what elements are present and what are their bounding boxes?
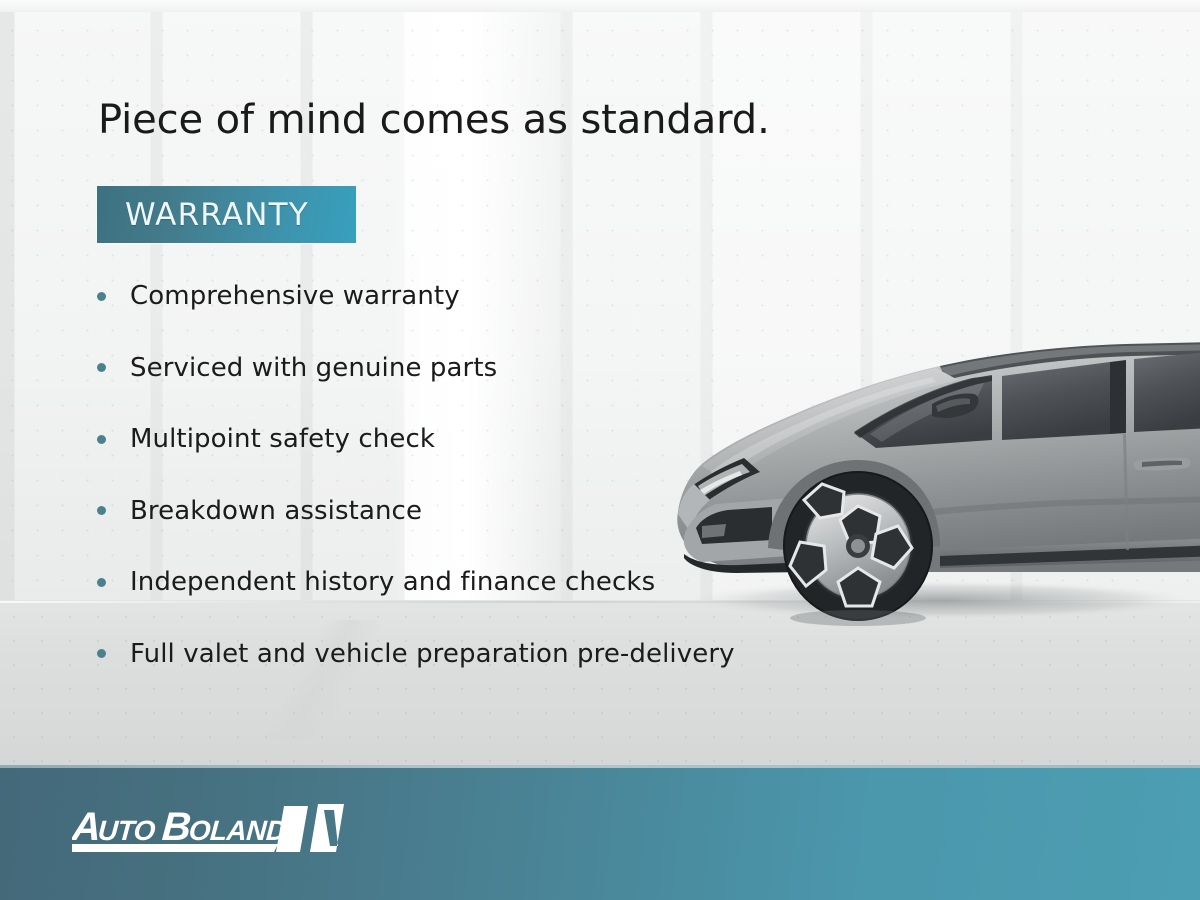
list-item: Full valet and vehicle preparation pre-d… xyxy=(97,636,797,672)
bullet-dot-icon xyxy=(97,506,106,515)
footer-top-edge xyxy=(0,765,1200,768)
bullet-dot-icon xyxy=(97,292,106,301)
list-item: Serviced with genuine parts xyxy=(97,350,797,386)
bullet-dot-icon xyxy=(97,649,106,658)
list-item-label: Full valet and vehicle preparation pre-d… xyxy=(130,639,735,669)
logo-bar-outline xyxy=(310,804,344,852)
warranty-badge: WARRANTY xyxy=(97,186,356,243)
logo-underline xyxy=(72,844,278,852)
ceiling-strip xyxy=(0,0,1200,12)
benefits-list: Comprehensive warranty Serviced with gen… xyxy=(97,278,797,707)
page-title: Piece of mind comes as standard. xyxy=(98,97,770,143)
list-item: Comprehensive warranty xyxy=(97,278,797,314)
auto-boland-logo: A UTO B OLAND. xyxy=(72,800,412,862)
list-item-label: Comprehensive warranty xyxy=(130,281,460,311)
list-item: Breakdown assistance xyxy=(97,493,797,529)
bullet-dot-icon xyxy=(97,435,106,444)
list-item-label: Breakdown assistance xyxy=(130,496,422,526)
list-item-label: Multipoint safety check xyxy=(130,424,435,454)
logo-bar-solid xyxy=(276,806,308,852)
logo-text-uto: UTO xyxy=(97,815,157,846)
bullet-dot-icon xyxy=(97,578,106,587)
presentation-slide: Piece of mind comes as standard. WARRANT… xyxy=(0,0,1200,900)
list-item: Multipoint safety check xyxy=(97,421,797,457)
bullet-dot-icon xyxy=(97,363,106,372)
warranty-badge-label: WARRANTY xyxy=(97,197,309,233)
list-item-label: Independent history and finance checks xyxy=(130,567,655,597)
list-item: Independent history and finance checks xyxy=(97,564,797,600)
list-item-label: Serviced with genuine parts xyxy=(130,353,497,383)
